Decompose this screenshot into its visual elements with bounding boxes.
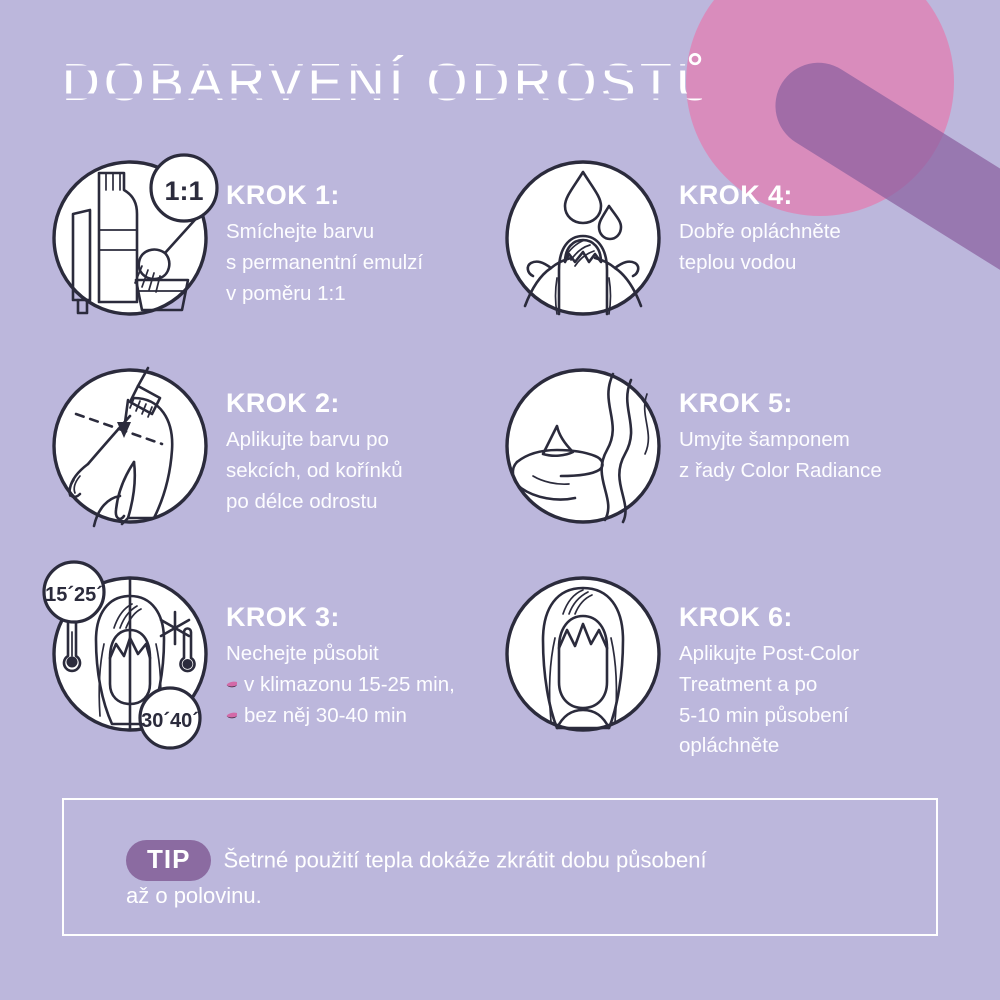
ratio-badge-label: 1:1 [164,176,203,206]
hands-washing-hair-waterdrop-icon [505,158,663,316]
svg-text:DOBARVENÍ ODROSTŮ: DOBARVENÍ ODROSTŮ [62,53,702,112]
step-heading: KROK 4: [679,180,958,211]
tip-content: TIPŠetrné použití tepla dokáže zkrátit d… [64,800,936,909]
step-card-2: KROK 2: Aplikujte barvu po sekcích, od k… [52,366,505,574]
step-body-line: sekcích, od kořínků [226,459,403,482]
step-body-line: Umyjte šamponem [679,428,850,451]
step-body: Nechejte působit [226,639,505,670]
step-text-1: KROK 1: Smíchejte barvu s permanentní em… [226,158,505,309]
step-heading: KROK 1: [226,180,505,211]
step-card-3: 15´25´ 30´40´ KROK 3: Nechejte působit v… [52,574,505,796]
leaf-bullet-icon [226,712,238,720]
brush-applying-color-to-hair-icon [52,366,210,524]
step-heading: KROK 3: [226,602,505,633]
woman-long-hair-icon [505,574,663,732]
step-card-5: KROK 5: Umyjte šamponem z řady Color Rad… [505,366,958,574]
step-heading: KROK 6: [679,602,958,633]
step-body-line: 5-10 min působení [679,704,849,727]
step-heading: KROK 5: [679,388,958,419]
bullet-label: bez něj 30-40 min [244,704,407,727]
step-body-line: z řady Color Radiance [679,459,882,482]
list-item: bez něj 30-40 min [226,701,505,732]
step-body-line: po délce odrostu [226,490,378,513]
step-body-line: Nechejte působit [226,642,379,665]
tip-text-line2: až o polovinu. [126,883,936,909]
step-heading: KROK 2: [226,388,505,419]
hand-with-shampoo-icon [505,366,663,524]
step-body-line: Dobře opláchněte [679,220,841,243]
tip-box: TIPŠetrné použití tepla dokáže zkrátit d… [62,798,938,936]
step-card-6: KROK 6: Aplikujte Post-Color Treatment a… [505,574,958,796]
time-badge-bottom-label: 30´40´ [141,710,199,732]
step-text-6: KROK 6: Aplikujte Post-Color Treatment a… [679,574,958,762]
leaf-bullet-icon [226,681,238,689]
step-body: Aplikujte barvu po sekcích, od kořínků p… [226,425,505,517]
steps-grid: 1:1 KROK 1: Smíchejte barvu s permanentn… [52,158,958,796]
step-card-4: KROK 4: Dobře opláchněte teplou vodou [505,158,958,366]
split-head-hot-cold-thermometer-icon: 15´25´ 30´40´ [52,574,210,732]
time-badge-top-label: 15´25´ [45,584,103,606]
step-text-3: KROK 3: Nechejte působit v klimazonu 15-… [226,574,505,731]
step-body-line: v poměru 1:1 [226,282,346,305]
step-body-line: Smíchejte barvu [226,220,374,243]
step-body: Aplikujte Post-Color Treatment a po 5-10… [679,639,958,762]
step-text-4: KROK 4: Dobře opláchněte teplou vodou [679,158,958,279]
step-card-1: 1:1 KROK 1: Smíchejte barvu s permanentn… [52,158,505,366]
step-body-line: opláchněte [679,734,779,757]
tip-badge: TIP [126,840,211,881]
step-text-2: KROK 2: Aplikujte barvu po sekcích, od k… [226,366,505,517]
tube-bottle-brush-bowl-icon: 1:1 [52,158,210,316]
step-body-line: Aplikujte Post-Color [679,642,859,665]
step-body-line: teplou vodou [679,251,796,274]
step-body: Dobře opláchněte teplou vodou [679,217,958,279]
tip-text-line1: Šetrné použití tepla dokáže zkrátit dobu… [223,848,706,873]
step-body-line: s permanentní emulzí [226,251,423,274]
list-item: v klimazonu 15-25 min, [226,670,505,701]
step-bullet-list: v klimazonu 15-25 min, bez něj 30-40 min [226,670,505,732]
step-body-line: Aplikujte barvu po [226,428,389,451]
step-body-line: Treatment a po [679,673,817,696]
bullet-label: v klimazonu 15-25 min, [244,673,455,696]
step-body: Smíchejte barvu s permanentní emulzí v p… [226,217,505,309]
page-title: DOBARVENÍ ODROSTŮ [62,52,702,114]
step-text-5: KROK 5: Umyjte šamponem z řady Color Rad… [679,366,958,487]
step-body: Umyjte šamponem z řady Color Radiance [679,425,958,487]
